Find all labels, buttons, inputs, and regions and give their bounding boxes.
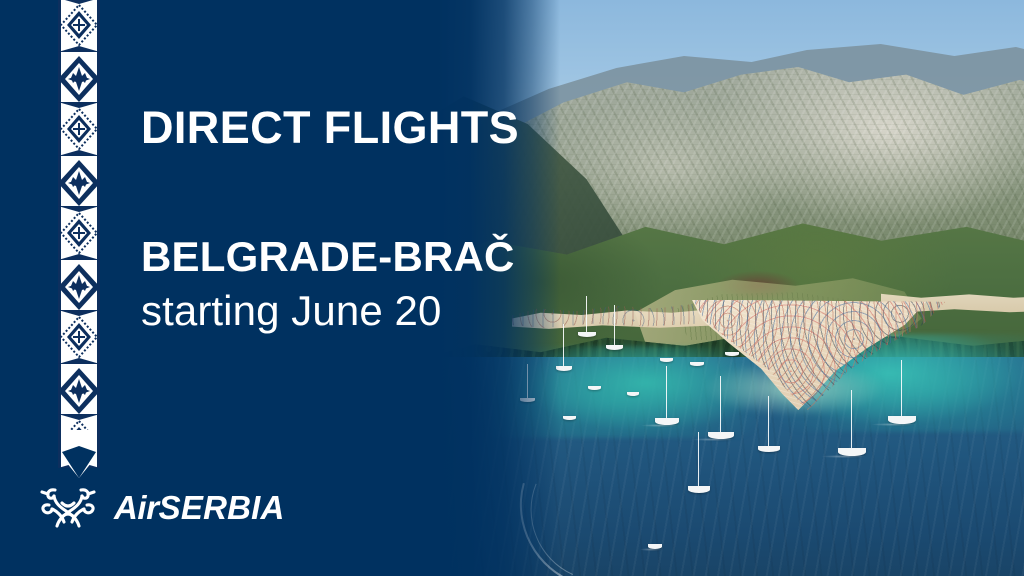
wordmark-serbia: SERBIA (159, 489, 285, 526)
mast (563, 324, 564, 366)
hull (688, 486, 710, 493)
wake (821, 455, 866, 458)
hull (690, 362, 704, 366)
sailboat (708, 432, 734, 439)
wake (641, 424, 679, 427)
sailboat (688, 486, 710, 493)
mast (851, 390, 852, 448)
motorboat (690, 362, 704, 366)
hull (660, 358, 673, 362)
mast (698, 432, 699, 486)
headline: DIRECT FLIGHTS (141, 104, 519, 151)
motorboat (588, 386, 601, 390)
start-date-line: starting June 20 (141, 288, 441, 333)
motorboat (725, 352, 739, 356)
motorboat (660, 358, 673, 362)
hull (578, 332, 596, 337)
air-serbia-twin-birds-emblem (36, 483, 100, 533)
hull (758, 446, 780, 452)
wordmark-air: Air (114, 489, 159, 526)
sailboat (578, 332, 596, 337)
sailboat (606, 345, 623, 350)
hull (627, 392, 639, 396)
hull (725, 352, 739, 356)
mast (586, 296, 587, 332)
wake (871, 423, 916, 426)
sailboat (888, 416, 916, 424)
hull (588, 386, 601, 390)
motorboat (627, 392, 639, 396)
promotional-banner: DIRECT FLIGHTS BELGRADE-BRAČ starting Ju… (0, 0, 1024, 576)
mast (666, 366, 667, 418)
air-serbia-logo[interactable]: AirSERBIA (36, 483, 285, 533)
sailboat (758, 446, 780, 452)
mast (768, 396, 769, 446)
sailboat (838, 448, 866, 456)
mast (720, 376, 721, 432)
hull (563, 416, 576, 420)
hull (606, 345, 623, 350)
route-title: BELGRADE-BRAČ (141, 234, 515, 279)
air-serbia-wordmark: AirSERBIA (114, 489, 285, 527)
sailboat (655, 418, 679, 425)
mast (901, 360, 902, 416)
mast (614, 305, 615, 345)
serbian-folk-embroidery-border (52, 0, 106, 478)
motorboat (563, 416, 576, 420)
